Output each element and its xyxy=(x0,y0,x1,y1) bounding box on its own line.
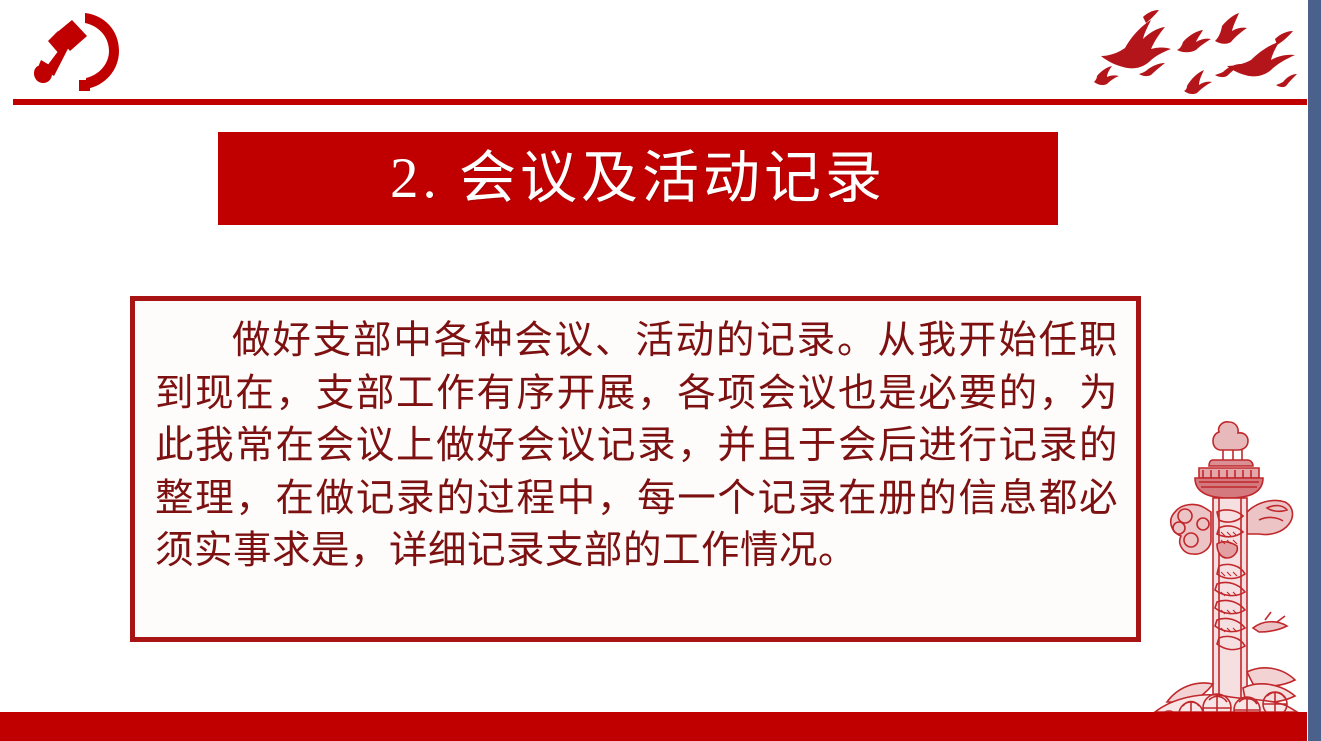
frame-inner-gap xyxy=(1307,0,1308,741)
page-title: 2. 会议及活动记录 xyxy=(390,150,886,207)
huabiao-pillar-icon xyxy=(1147,416,1307,741)
window-frame-right-border xyxy=(1308,0,1321,741)
flying-doves-icon xyxy=(1079,4,1307,98)
body-paragraph: 做好支部中各种会议、活动的记录。从我开始任职到现在，支部工作有序开展，各项会议也… xyxy=(135,301,1136,578)
header-divider xyxy=(13,99,1308,105)
body-text-box: 做好支部中各种会议、活动的记录。从我开始任职到现在，支部工作有序开展，各项会议也… xyxy=(130,296,1141,642)
title-banner: 2. 会议及活动记录 xyxy=(218,132,1058,225)
hammer-and-sickle-icon xyxy=(24,8,136,96)
footer-accent-bar xyxy=(0,712,1308,741)
slide-canvas: 2. 会议及活动记录 做好支部中各种会议、活动的记录。从我开始任职到现在，支部工… xyxy=(0,0,1321,741)
